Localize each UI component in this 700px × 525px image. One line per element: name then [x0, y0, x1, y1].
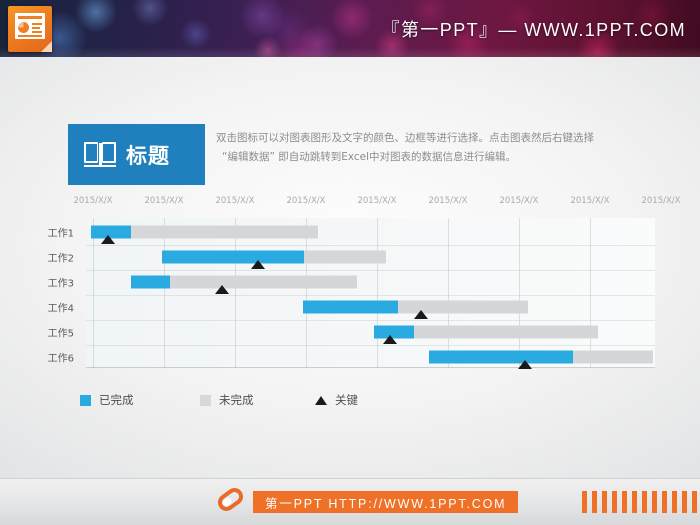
legend-label-3: 关键 [335, 392, 358, 408]
paperclip-icon-ring [215, 485, 247, 515]
milestone-marker-2[interactable] [251, 260, 265, 269]
powerpoint-icon-page [15, 13, 45, 39]
y-axis-category-labels: 工作1工作2工作3工作4工作5工作6 [0, 218, 86, 368]
gridline-6 [448, 218, 449, 368]
legend-swatch-1 [80, 395, 91, 406]
gantt-bar-completed-6[interactable] [429, 351, 573, 364]
brand-watermark: 『第一PPT』— WWW.1PPT.COM [382, 16, 686, 42]
milestone-marker-3[interactable] [215, 285, 229, 294]
x-axis-tick-7: 2015/X/X [499, 196, 538, 206]
book-icon-left-page [84, 142, 98, 163]
footer-stripes [582, 491, 700, 513]
category-label-6: 工作6 [48, 350, 74, 365]
row-separator-2 [86, 270, 655, 271]
x-axis-tick-1: 2015/X/X [73, 196, 112, 206]
legend-swatch-2 [200, 395, 211, 406]
row-separator-1 [86, 245, 655, 246]
row-separator-4 [86, 320, 655, 321]
powerpoint-icon-line-3 [32, 31, 42, 33]
milestone-marker-1[interactable] [101, 235, 115, 244]
description-text: 双击图标可以对图表图形及文字的颜色、边框等进行选择。点击图表然后右键选择 “编辑… [216, 129, 636, 167]
powerpoint-icon-line-4 [18, 35, 42, 37]
category-label-1: 工作1 [48, 225, 74, 240]
x-axis-tick-labels: 2015/X/X2015/X/X2015/X/X2015/X/X2015/X/X… [0, 196, 700, 216]
category-label-2: 工作2 [48, 250, 74, 265]
x-axis-tick-5: 2015/X/X [357, 196, 396, 206]
legend-item-2[interactable]: 未完成 [200, 392, 254, 408]
pie-chart-icon [18, 22, 29, 33]
gantt-bar-completed-4[interactable] [303, 301, 398, 314]
description-line-1: 双击图标可以对图表图形及文字的颜色、边框等进行选择。点击图表然后右键选择 [216, 129, 636, 148]
gantt-bar-remaining-2[interactable] [304, 251, 386, 264]
legend-label-1: 已完成 [99, 392, 134, 408]
x-axis-tick-9: 2015/X/X [641, 196, 680, 206]
row-separator-3 [86, 295, 655, 296]
gantt-bar-remaining-6[interactable] [573, 351, 653, 364]
milestone-marker-5[interactable] [383, 335, 397, 344]
legend-item-1[interactable]: 已完成 [80, 392, 134, 408]
description-line-2: “编辑数据” 即自动跳转到Excel中对图表的数据信息进行编辑。 [216, 148, 636, 167]
milestone-marker-4[interactable] [414, 310, 428, 319]
x-axis-tick-4: 2015/X/X [286, 196, 325, 206]
x-axis-line [86, 367, 655, 368]
gantt-bar-completed-3[interactable] [131, 276, 170, 289]
gridline-4 [306, 218, 307, 368]
powerpoint-icon-line-1 [32, 23, 42, 25]
book-icon-right-page [102, 142, 116, 163]
page-title: 标题 [126, 140, 170, 170]
powerpoint-icon [8, 6, 52, 52]
gridline-1 [93, 218, 94, 368]
gantt-bar-completed-2[interactable] [162, 251, 304, 264]
gridline-8 [590, 218, 591, 368]
chart-legend: 已完成未完成关键 [80, 392, 420, 412]
powerpoint-icon-titlebar [18, 16, 42, 19]
row-separator-5 [86, 345, 655, 346]
top-banner: 『第一PPT』— WWW.1PPT.COM [0, 0, 700, 57]
gantt-bar-remaining-5[interactable] [414, 326, 598, 339]
gridline-3 [235, 218, 236, 368]
legend-item-3[interactable]: 关键 [315, 392, 358, 408]
chart-plot-area [86, 218, 655, 368]
gridline-2 [164, 218, 165, 368]
x-axis-tick-3: 2015/X/X [215, 196, 254, 206]
x-axis-tick-6: 2015/X/X [428, 196, 467, 206]
gantt-chart: 2015/X/X2015/X/X2015/X/X2015/X/X2015/X/X… [0, 196, 700, 386]
footer-url-banner: 第一PPT HTTP://WWW.1PPT.COM [253, 491, 518, 513]
footer-bar: 第一PPT HTTP://WWW.1PPT.COM [0, 478, 700, 525]
book-icon-base [84, 165, 116, 168]
book-icon [84, 142, 116, 167]
paperclip-icon [215, 489, 247, 515]
book-icon-spine [99, 143, 102, 166]
milestone-marker-6[interactable] [518, 360, 532, 369]
legend-label-2: 未完成 [219, 392, 254, 408]
legend-triangle-icon [315, 396, 327, 405]
category-label-5: 工作5 [48, 325, 74, 340]
gridline-7 [519, 218, 520, 368]
x-axis-tick-2: 2015/X/X [144, 196, 183, 206]
gantt-bar-remaining-3[interactable] [170, 276, 357, 289]
gridline-5 [377, 218, 378, 368]
category-label-3: 工作3 [48, 275, 74, 290]
category-label-4: 工作4 [48, 300, 74, 315]
slide-title-badge: 标题 [68, 124, 205, 185]
banner-shine [0, 47, 700, 57]
gantt-bar-remaining-1[interactable] [131, 226, 318, 239]
powerpoint-icon-line-2 [32, 27, 40, 29]
x-axis-tick-8: 2015/X/X [570, 196, 609, 206]
